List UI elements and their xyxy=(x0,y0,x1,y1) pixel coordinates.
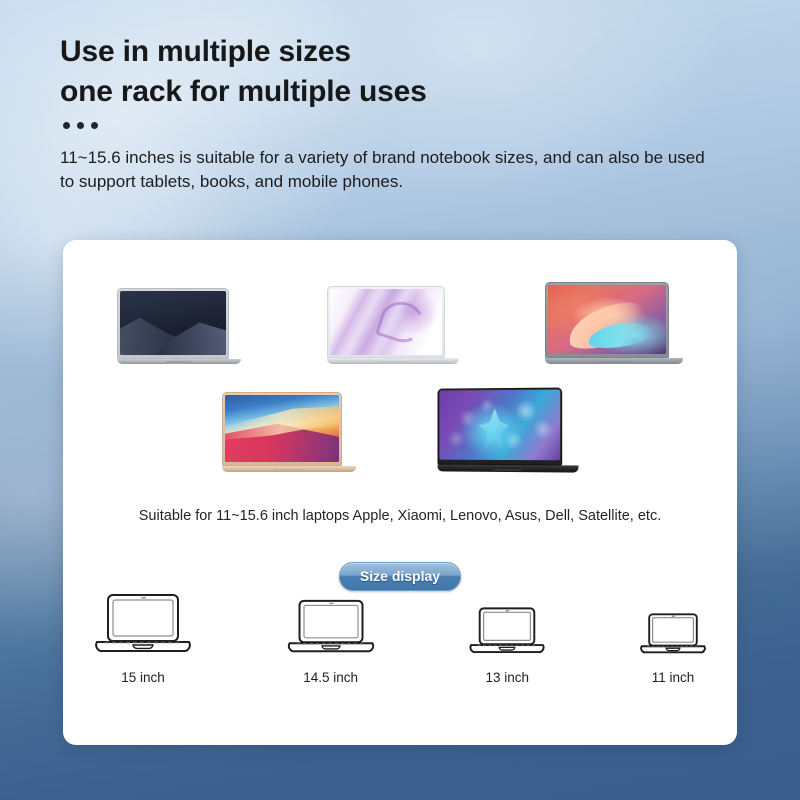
laptop-lid xyxy=(327,286,445,358)
size-item-14-5-inch: 14.5 inch xyxy=(286,598,376,685)
wallpaper-blue-bokeh xyxy=(439,390,560,461)
subtext-paragraph: 11~15.6 inches is suitable for a variety… xyxy=(60,146,720,195)
laptop-base xyxy=(437,465,578,473)
laptop-base xyxy=(117,359,241,364)
laptop-base xyxy=(222,466,356,472)
wallpaper-big-sur xyxy=(225,395,339,462)
laptop-photo-macbook-air-gold xyxy=(222,392,356,472)
laptop-base xyxy=(545,358,683,364)
dot-1 xyxy=(63,122,70,129)
header-block: Use in multiple sizes one rack for multi… xyxy=(60,32,740,195)
laptop-outline-icon xyxy=(286,598,376,656)
laptop-lid xyxy=(117,288,229,359)
laptop-outline-icon xyxy=(93,592,193,656)
laptop-photo-row-bottom xyxy=(63,388,737,472)
size-item-15-inch: 15 inch xyxy=(93,592,193,685)
laptop-notch xyxy=(378,361,408,363)
laptop-photo-huawei-white xyxy=(327,286,459,364)
wallpaper-warm-abstract xyxy=(548,285,666,354)
size-display-badge-wrap: Size display xyxy=(63,562,737,591)
dot-2 xyxy=(77,122,84,129)
size-item-13-inch: 13 inch xyxy=(468,606,546,685)
laptop-lid xyxy=(222,392,342,466)
laptop-lid xyxy=(545,282,669,358)
compatibility-caption: Suitable for 11~15.6 inch laptops Apple,… xyxy=(63,508,737,524)
laptop-screen xyxy=(439,390,560,461)
size-label: 11 inch xyxy=(652,670,695,685)
laptop-screen xyxy=(120,291,226,355)
laptop-photo-row-top xyxy=(63,282,737,364)
laptop-photo-macbook-silver xyxy=(117,288,241,364)
size-label: 15 inch xyxy=(121,670,165,685)
laptop-notch xyxy=(598,361,630,363)
laptop-screen xyxy=(225,395,339,462)
laptop-photo-thinkpad-black xyxy=(437,387,578,472)
laptop-base xyxy=(327,358,459,364)
laptop-outline-icon xyxy=(468,606,546,656)
size-item-11-inch: 11 inch xyxy=(639,612,707,685)
size-label: 13 inch xyxy=(486,670,530,685)
size-icon-row: 15 inch 14.5 inch xyxy=(93,592,707,685)
product-card: Suitable for 11~15.6 inch laptops Apple,… xyxy=(63,240,737,745)
headline-line-2: one rack for multiple uses xyxy=(60,72,740,112)
size-display-badge: Size display xyxy=(339,562,461,591)
laptop-notch xyxy=(166,361,192,363)
wallpaper-mojave-dune xyxy=(120,291,226,355)
headline-line-1: Use in multiple sizes xyxy=(60,32,740,72)
laptop-notch xyxy=(492,469,522,471)
laptop-notch xyxy=(274,469,304,471)
laptop-photo-redmibook-grey xyxy=(545,282,683,364)
laptop-screen xyxy=(548,285,666,354)
dot-3 xyxy=(91,122,98,129)
size-label: 14.5 inch xyxy=(303,670,358,685)
divider-dots xyxy=(63,122,740,129)
laptop-outline-icon xyxy=(639,612,707,656)
laptop-lid xyxy=(437,388,562,466)
laptop-screen xyxy=(330,289,442,355)
wallpaper-purple-swirl xyxy=(330,289,442,355)
